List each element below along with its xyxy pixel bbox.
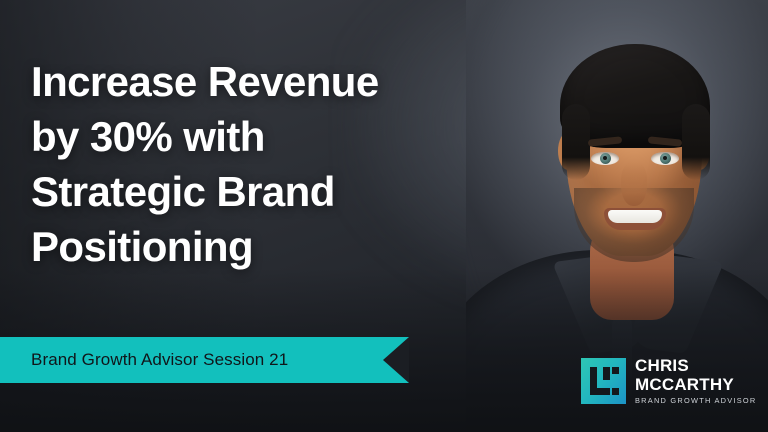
brand-logo: CHRIS MCCARTHY BRAND GROWTH ADVISOR — [581, 357, 757, 404]
headline-line-1: Increase Revenue — [31, 54, 481, 109]
eye-right — [651, 152, 679, 165]
hair-side-left — [562, 104, 590, 180]
headline-line-3: Strategic Brand — [31, 164, 481, 219]
mouth — [604, 208, 666, 230]
session-ribbon: Brand Growth Advisor Session 21 — [0, 337, 409, 383]
iris-left — [600, 153, 611, 164]
brand-name-line-2: MCCARTHY — [635, 376, 757, 393]
teeth — [608, 210, 662, 223]
nose — [621, 162, 647, 206]
ribbon-notch — [383, 337, 409, 383]
page-title: Increase Revenue by 30% with Strategic B… — [31, 54, 481, 274]
chris-mccarthy-monogram-icon — [581, 358, 626, 404]
webinar-slide: Increase Revenue by 30% with Strategic B… — [0, 0, 768, 432]
session-ribbon-label: Brand Growth Advisor Session 21 — [31, 350, 288, 370]
hair-side-right — [682, 104, 710, 180]
brand-name-line-1: CHRIS — [635, 357, 757, 374]
headline-line-2: by 30% with — [31, 109, 481, 164]
eye-left — [591, 152, 619, 165]
headline-line-4: Positioning — [31, 219, 481, 274]
brand-tagline: BRAND GROWTH ADVISOR — [635, 397, 757, 404]
brand-wordmark: CHRIS MCCARTHY BRAND GROWTH ADVISOR — [635, 357, 757, 404]
iris-right — [660, 153, 671, 164]
